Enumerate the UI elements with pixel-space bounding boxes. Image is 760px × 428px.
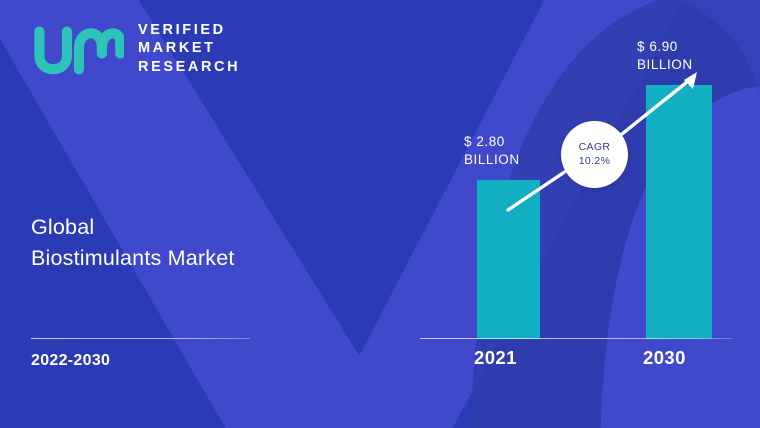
cagr-label: CAGR xyxy=(579,141,611,154)
cagr-badge: CAGR 10.2% xyxy=(561,121,628,188)
bar-value-unit-2021: BILLION xyxy=(464,151,520,169)
axis-label-2030: 2030 xyxy=(643,347,686,369)
bar-2021 xyxy=(477,180,540,339)
axis-label-2021: 2021 xyxy=(474,347,517,369)
cagr-value: 10.2% xyxy=(579,155,611,168)
bar-value-unit-2030: BILLION xyxy=(637,56,693,74)
bar-chart: $ 2.80 BILLION $ 6.90 BILLION 2021 2030 … xyxy=(0,0,760,428)
bar-value-2030: $ 6.90 BILLION xyxy=(637,38,693,74)
infographic-canvas: VERIFIED MARKET RESEARCH Global Biostimu… xyxy=(0,0,760,428)
bar-2030 xyxy=(646,85,712,339)
bar-value-amount-2021: $ 2.80 xyxy=(464,133,520,151)
chart-baseline xyxy=(420,338,732,339)
bar-value-2021: $ 2.80 BILLION xyxy=(464,133,520,169)
bar-value-amount-2030: $ 6.90 xyxy=(637,38,693,56)
